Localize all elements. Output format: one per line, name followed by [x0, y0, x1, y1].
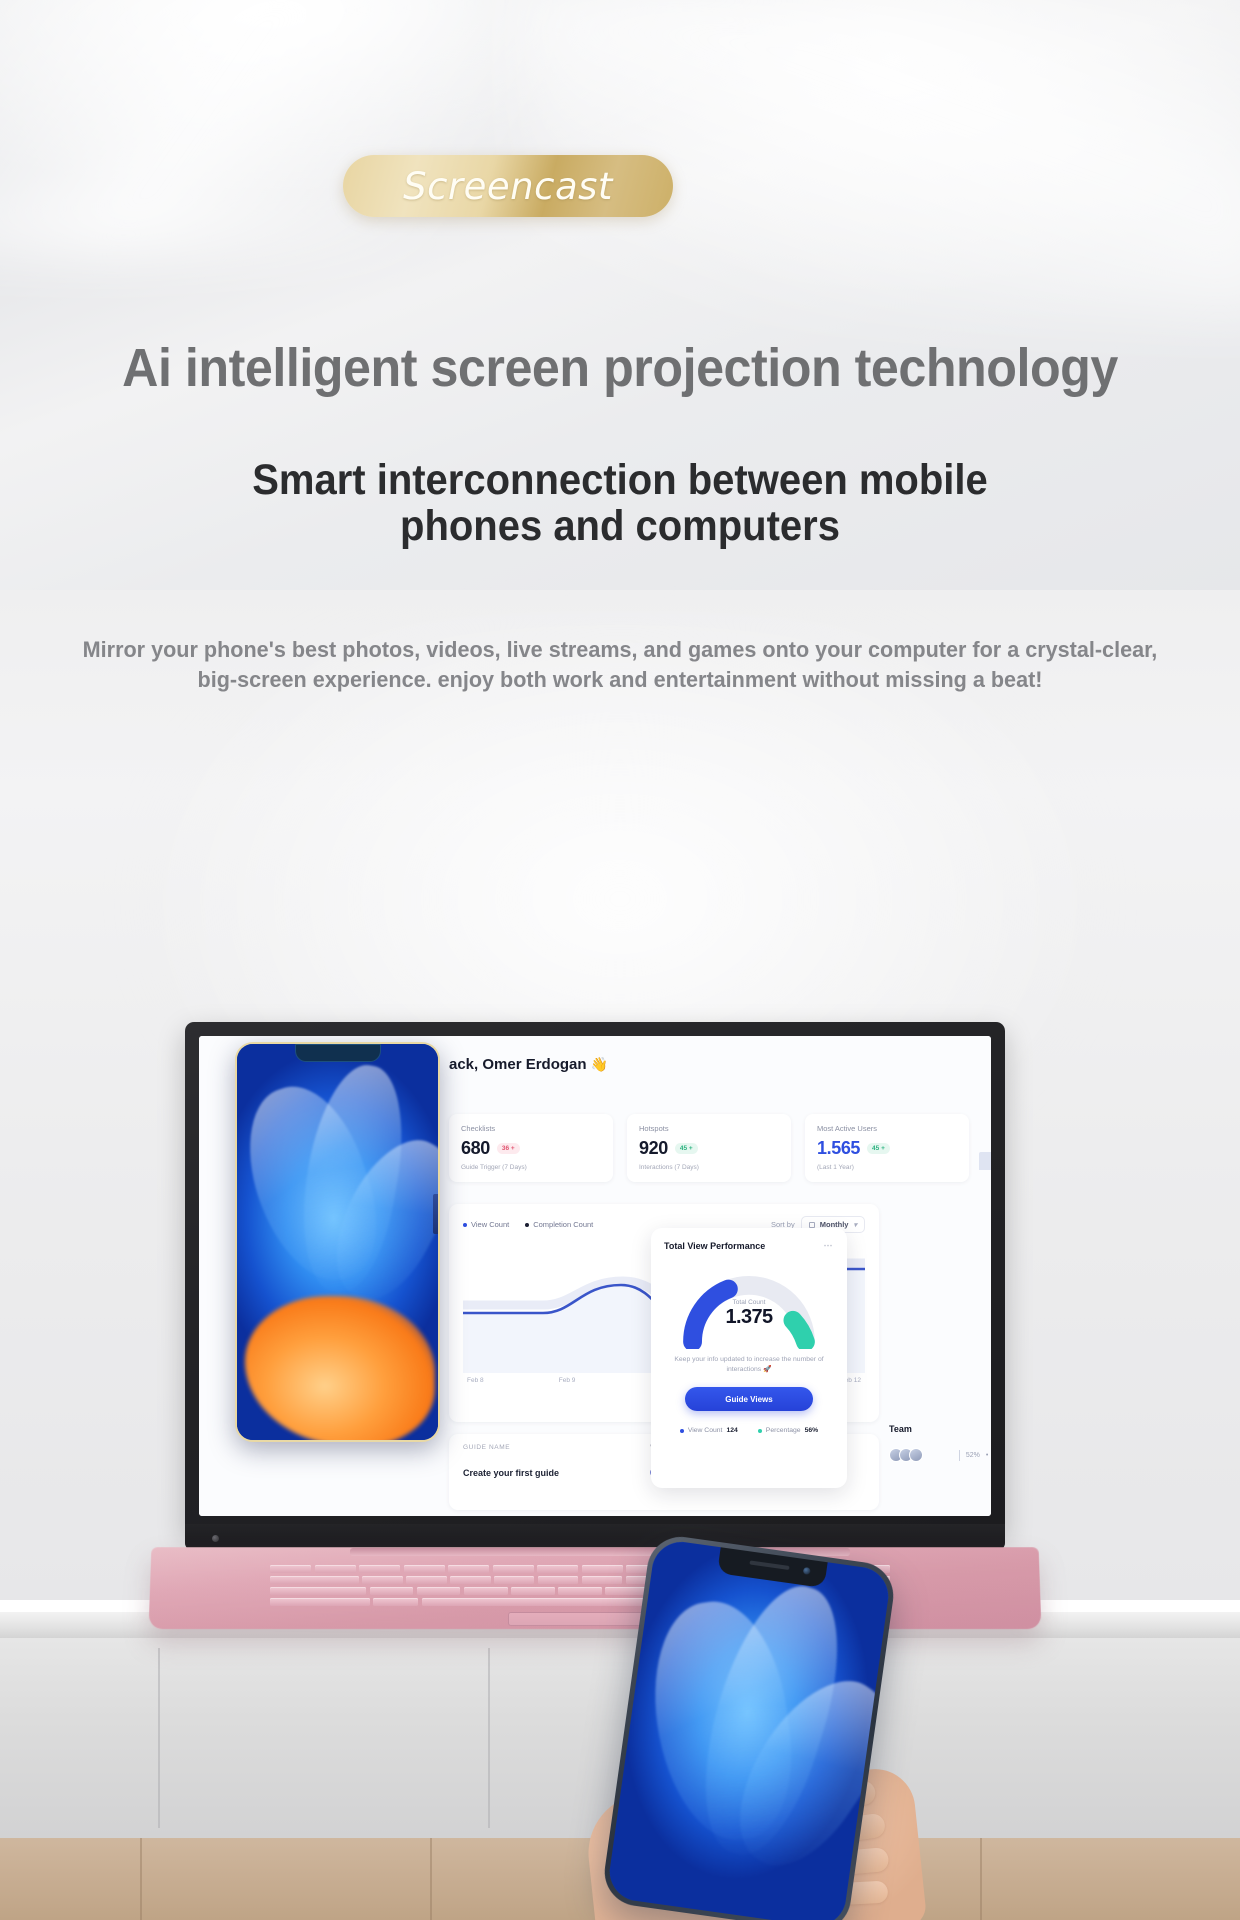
key [448, 1565, 489, 1573]
page-description: Mirror your phone's best photos, videos,… [78, 635, 1163, 694]
front-camera-icon [803, 1567, 811, 1575]
floor-seam [980, 1838, 982, 1920]
legend-dot-icon [680, 1429, 684, 1433]
performance-note-text: Keep your info updated to increase the n… [674, 1356, 823, 1373]
phone-notch [295, 1044, 381, 1062]
key [538, 1576, 578, 1584]
screencast-badge-label: Screencast [403, 165, 613, 208]
calendar-icon [809, 1222, 815, 1228]
key [315, 1565, 356, 1573]
key [270, 1565, 311, 1573]
team-percent: 52% [966, 1452, 980, 1459]
promo-page: Screencast Ai intelligent screen project… [0, 0, 1240, 1920]
guide-views-button[interactable]: Guide Views [685, 1387, 813, 1411]
page-subtitle-line-2: phones and computers [155, 504, 1085, 550]
performance-card-title: Total View Performance [664, 1241, 765, 1251]
key [417, 1587, 461, 1595]
stat-subtext: Guide Trigger (7 Days) [461, 1164, 601, 1171]
desk-panel [0, 1648, 160, 1828]
column-header-guide-name: GUIDE NAME [463, 1444, 650, 1451]
key [270, 1587, 366, 1595]
mini-bar-chart [979, 1118, 991, 1170]
floor-seam [140, 1838, 142, 1920]
gauge-center-text: Total Count 1.375 [664, 1299, 834, 1329]
chevron-down-icon: ▾ [853, 1221, 857, 1229]
stat-value: 680 [461, 1138, 490, 1159]
laptop-lid-chin [185, 1524, 1005, 1550]
legend-label: Percentage [766, 1427, 801, 1434]
legend-dot-icon [463, 1223, 467, 1227]
performance-card-header: Total View Performance ⋯ [664, 1240, 834, 1251]
key [537, 1565, 578, 1573]
key [373, 1598, 418, 1606]
mirror-side-button[interactable] [433, 1194, 440, 1234]
stat-card: Most Active Users 1.565 45 + (Last 1 Yea… [805, 1114, 969, 1182]
phone-body [600, 1533, 897, 1920]
stat-badge: 45 + [675, 1143, 698, 1154]
bullet-icon: • [986, 1452, 988, 1459]
legend-label: View Count [688, 1427, 723, 1434]
key [493, 1565, 534, 1573]
legend-label: View Count [471, 1220, 509, 1229]
legend-item-view-count: View Count 124 [680, 1427, 738, 1434]
key [582, 1565, 623, 1573]
total-view-performance-card: Total View Performance ⋯ Total Count [651, 1228, 847, 1488]
earpiece-speaker-icon [749, 1560, 789, 1570]
stat-badge: 36 + [497, 1143, 520, 1154]
key [362, 1576, 402, 1584]
key [582, 1576, 622, 1584]
background-sheen-left [0, 0, 560, 260]
dashboard-greeting-text: ack, Omer Erdogan [449, 1056, 587, 1073]
key [558, 1587, 602, 1595]
gauge-label: Total Count [664, 1299, 834, 1306]
stat-value-row: 1.565 45 + [817, 1138, 957, 1159]
laptop: ack, Omer Erdogan 👋 Checklists 680 36 + … [150, 1022, 1040, 1622]
stat-value: 920 [639, 1138, 668, 1159]
key [370, 1587, 414, 1595]
performance-note: Keep your info updated to increase the n… [664, 1355, 834, 1375]
key [404, 1565, 445, 1573]
stat-card: Checklists 680 36 + Guide Trigger (7 Day… [449, 1114, 613, 1182]
key [359, 1565, 400, 1573]
cell-guide-name: Create your first guide [463, 1468, 650, 1478]
key [406, 1576, 446, 1584]
mirrored-phone-screen [235, 1042, 440, 1442]
stat-label: Hotspots [639, 1124, 779, 1133]
stat-value: 1.565 [817, 1138, 860, 1159]
key [270, 1598, 370, 1606]
key [464, 1587, 508, 1595]
stat-subtext: (Last 1 Year) [817, 1164, 957, 1171]
performance-gauge: Total Count 1.375 [664, 1263, 834, 1349]
waving-hand-icon: 👋 [591, 1056, 608, 1072]
legend-dot-icon [758, 1429, 762, 1433]
key [494, 1576, 534, 1584]
legend-value: 124 [726, 1427, 737, 1434]
dashboard-greeting: ack, Omer Erdogan 👋 [449, 1056, 608, 1073]
legend-item-view-count: View Count [463, 1220, 509, 1229]
page-subtitle-line-1: Smart interconnection between mobile [155, 458, 1085, 504]
stat-label: Checklists [461, 1124, 601, 1133]
x-tick: Feb 8 [467, 1377, 484, 1384]
legend-label: Completion Count [533, 1220, 593, 1229]
laptop-trackpad[interactable] [508, 1612, 658, 1626]
stat-value-row: 680 36 + [461, 1138, 601, 1159]
gauge-value: 1.375 [664, 1306, 834, 1329]
key [270, 1576, 359, 1584]
team-stats: 52% • 440 View [959, 1448, 991, 1462]
x-tick: Feb 9 [559, 1377, 576, 1384]
laptop-screen: ack, Omer Erdogan 👋 Checklists 680 36 + … [199, 1036, 991, 1516]
phone [600, 1533, 897, 1920]
stats-row: Checklists 680 36 + Guide Trigger (7 Day… [449, 1114, 969, 1182]
avatar [909, 1448, 923, 1462]
legend-dot-icon [525, 1223, 529, 1227]
laptop-lid: ack, Omer Erdogan 👋 Checklists 680 36 + … [185, 1022, 1005, 1534]
laptop-indicator-icon [212, 1535, 219, 1542]
team-label: Team [889, 1424, 912, 1434]
stat-card: Hotspots 920 45 + Interactions (7 Days) [627, 1114, 791, 1182]
legend-value: 56% [805, 1427, 819, 1434]
rocket-icon: 🚀 [763, 1366, 771, 1373]
legend-item-percentage: Percentage 56% [758, 1427, 818, 1434]
floor-seam [430, 1838, 432, 1920]
divider [959, 1450, 960, 1461]
phone-screen[interactable] [606, 1538, 892, 1920]
team-avatars [889, 1448, 923, 1462]
performance-legend: View Count 124 Percentage 56% [664, 1427, 834, 1434]
page-title: Ai intelligent screen projection technol… [43, 337, 1196, 399]
key [450, 1576, 490, 1584]
ellipsis-icon[interactable]: ⋯ [824, 1240, 835, 1251]
stat-subtext: Interactions (7 Days) [639, 1164, 779, 1171]
mini-bar [979, 1152, 991, 1170]
stat-label: Most Active Users [817, 1124, 957, 1133]
legend-item-completion-count: Completion Count [525, 1220, 593, 1229]
stat-value-row: 920 45 + [639, 1138, 779, 1159]
page-subtitle: Smart interconnection between mobile pho… [155, 458, 1085, 549]
stat-badge: 45 + [867, 1143, 890, 1154]
key [511, 1587, 555, 1595]
desk-panel [160, 1648, 490, 1828]
screencast-badge: Screencast [343, 155, 673, 217]
